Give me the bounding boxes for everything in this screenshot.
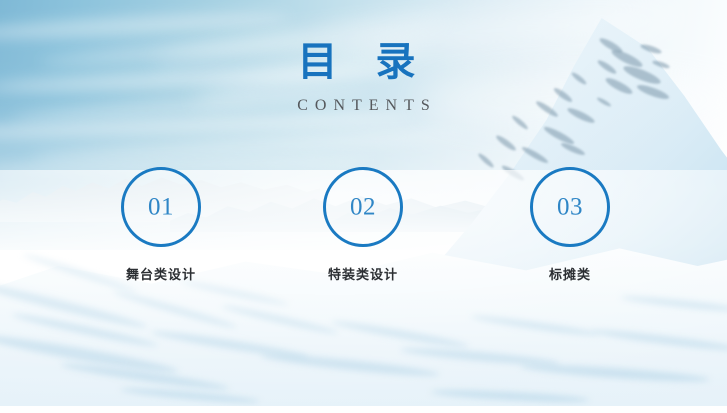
contents-item-label[interactable]: 舞台类设计 (91, 264, 231, 283)
slide-content: 目 录 CONTENTS 01 舞台类设计 02 特装类设计 03 标摊类 (0, 0, 727, 413)
circle-number-label: 01 (124, 195, 198, 220)
contents-item-3[interactable]: 03 标摊类 (500, 167, 640, 283)
number-circle-3[interactable]: 03 (530, 167, 610, 247)
number-circle-2[interactable]: 02 (323, 167, 403, 247)
contents-slide: 目 录 CONTENTS 01 舞台类设计 02 特装类设计 03 标摊类 (0, 0, 727, 413)
number-circle-1[interactable]: 01 (121, 167, 201, 247)
contents-item-2[interactable]: 02 特装类设计 (293, 167, 433, 283)
contents-item-list: 01 舞台类设计 02 特装类设计 03 标摊类 (0, 0, 727, 413)
contents-item-label[interactable]: 标摊类 (500, 264, 640, 283)
contents-item-label[interactable]: 特装类设计 (293, 264, 433, 283)
circle-number-label: 02 (326, 195, 400, 220)
circle-number-label: 03 (533, 195, 607, 220)
contents-item-1[interactable]: 01 舞台类设计 (91, 167, 231, 283)
